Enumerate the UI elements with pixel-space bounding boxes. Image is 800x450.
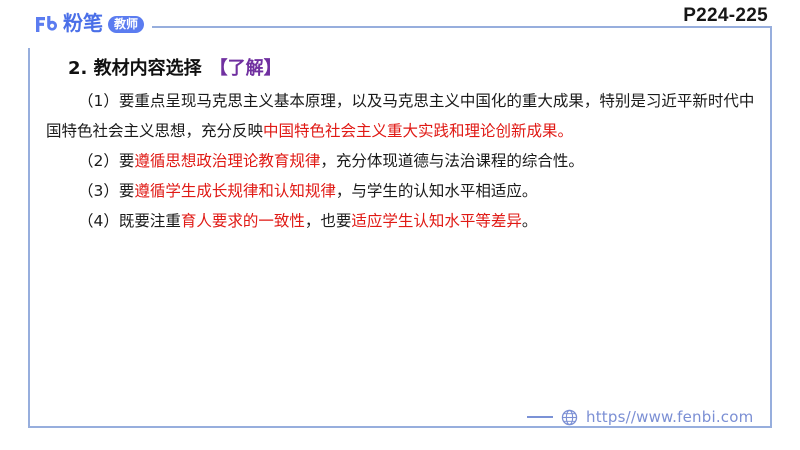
footer-rule xyxy=(527,416,553,418)
text-run: ，与学生的认知水平相适应。 xyxy=(336,182,538,200)
page-title: 2. 教材内容选择【了解】 xyxy=(68,56,760,82)
text-run: （4）既要注重 xyxy=(78,212,181,230)
slide-content: 2. 教材内容选择【了解】 （1）要重点呈现马克思主义基本原理，以及马克思主义中… xyxy=(46,56,760,236)
page-number-label: P224-225 xyxy=(683,5,768,27)
footer-website: https//www.fenbi.com xyxy=(523,408,757,426)
text-run: 遵循学生成长规律和认知规律 xyxy=(134,182,336,200)
brand-name: 粉笔 xyxy=(63,13,103,35)
globe-icon xyxy=(561,409,578,426)
text-run: 中国特色社会主义重大实践和理论创新成果。 xyxy=(263,122,573,140)
page-title-tag: 【了解】 xyxy=(210,58,282,79)
text-run: （3）要 xyxy=(78,182,134,200)
text-run: ，充分体现道德与法治课程的综合性。 xyxy=(320,152,584,170)
text-run: 。 xyxy=(522,212,538,230)
paragraph-item-3: （3）要遵循学生成长规律和认知规律，与学生的认知水平相适应。 xyxy=(46,176,760,206)
fenbi-fb-logo-icon xyxy=(34,14,58,35)
paragraph-item-2: （2）要遵循思想政治理论教育规律，充分体现道德与法治课程的综合性。 xyxy=(46,146,760,176)
brand-badge-teacher: 教师 xyxy=(108,16,144,33)
frame-top-line xyxy=(152,26,772,28)
page-title-text: 2. 教材内容选择 xyxy=(68,58,202,79)
footer-url-text[interactable]: https//www.fenbi.com xyxy=(586,408,753,426)
paragraph-list: （1）要重点呈现马克思主义基本原理，以及马克思主义中国化的重大成果，特别是习近平… xyxy=(46,86,760,236)
paragraph-item-4: （4）既要注重育人要求的一致性，也要适应学生认知水平等差异。 xyxy=(46,206,760,236)
paragraph-item-1: （1）要重点呈现马克思主义基本原理，以及马克思主义中国化的重大成果，特别是习近平… xyxy=(46,86,760,146)
frame-bottom-line xyxy=(28,426,772,428)
brand-logo: 粉笔 教师 xyxy=(34,11,150,37)
text-run: 适应学生认知水平等差异 xyxy=(351,212,522,230)
slide-root: 粉笔 教师 P224-225 2. 教材内容选择【了解】 （1）要重点呈现马克思… xyxy=(0,0,800,450)
frame-right-line xyxy=(770,26,772,428)
frame-left-line xyxy=(28,48,30,428)
text-run: 遵循思想政治理论教育规律 xyxy=(134,152,320,170)
text-run: 育人要求的一致性 xyxy=(181,212,305,230)
text-run: ，也要 xyxy=(305,212,352,230)
text-run: （2）要 xyxy=(78,152,134,170)
